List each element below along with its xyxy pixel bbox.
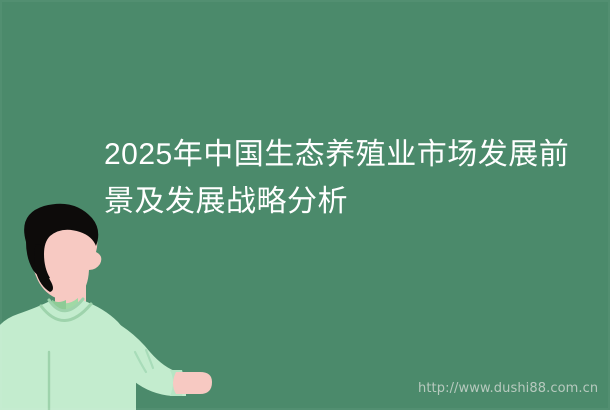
- hand-shape: [173, 372, 212, 394]
- banner-canvas: 2025年中国生态养殖业市场发展前景及发展战略分析 http://www.dus…: [0, 0, 610, 410]
- watermark-url: http://www.dushi88.com.cn: [418, 381, 598, 397]
- person-illustration: [0, 200, 230, 410]
- person-illustration-svg: [0, 200, 230, 410]
- banner-title: 2025年中国生态养殖业市场发展前景及发展战略分析: [104, 131, 574, 225]
